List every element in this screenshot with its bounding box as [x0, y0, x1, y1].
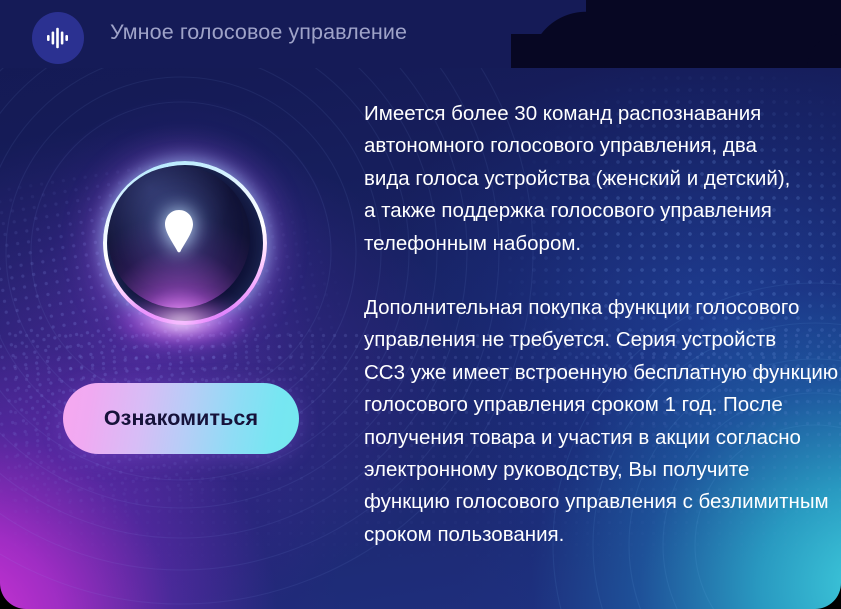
description-text-block: Имеется более 30 команд распознаванияавт…	[364, 98, 812, 551]
description-line: сроком пользования.	[364, 519, 812, 551]
description-paragraph: Имеется более 30 команд распознаванияавт…	[364, 98, 812, 260]
description-line: управления не требуется. Серия устройств	[364, 324, 812, 356]
description-line: Дополнительная покупка функции голосовог…	[364, 292, 812, 324]
voice-wave-glyph	[46, 27, 70, 49]
page-title: Умное голосовое управление	[110, 20, 407, 45]
description-paragraph: Дополнительная покупка функции голосовог…	[364, 292, 812, 551]
description-line: функцию голосового управления с безлимит…	[364, 486, 812, 518]
description-line: вида голоса устройства (женский и детски…	[364, 163, 812, 195]
description-line-text: CC3 уже имеет встроенную бесплатную функ…	[364, 361, 838, 384]
description-line: голосового управления сроком 1 год. Посл…	[364, 389, 812, 421]
description-line: а также поддержка голосового управления	[364, 195, 812, 227]
description-line: электронному руководству, Вы получите	[364, 454, 812, 486]
promo-card-stage: Ознакомиться Имеется более 30 команд рас…	[0, 0, 841, 609]
voice-assistant-orb	[103, 161, 259, 317]
header-corner-curve	[0, 68, 841, 102]
description-line: CC3 уже имеет встроенную бесплатную функ…	[364, 357, 812, 389]
orb-face	[108, 166, 250, 308]
location-pin-icon	[162, 208, 196, 254]
learn-more-button[interactable]: Ознакомиться	[63, 383, 299, 454]
description-line: Имеется более 30 команд распознавания	[364, 98, 812, 130]
description-line: телефонным набором.	[364, 228, 812, 260]
description-line: получения товара и участия в акции согла…	[364, 422, 812, 454]
description-line: автономного голосового управления, два	[364, 130, 812, 162]
description-line-text: функцию голосового управления с безлимит…	[364, 490, 829, 513]
voice-wave-icon	[32, 12, 84, 64]
promo-card: Ознакомиться Имеется более 30 команд рас…	[0, 0, 841, 609]
